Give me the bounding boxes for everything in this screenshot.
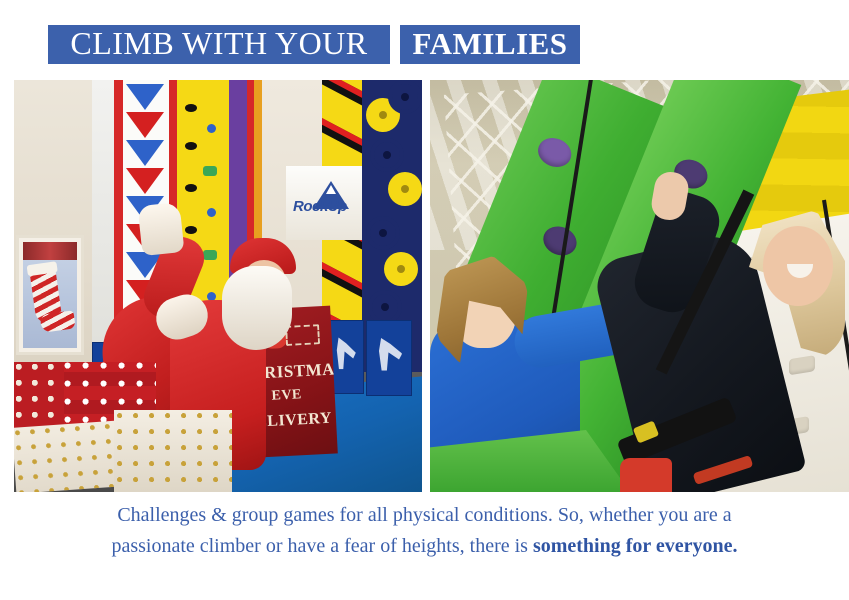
santa-scene-illustration: RockUp bbox=[14, 80, 422, 492]
page-header: CLIMB WITH YOUR FAMILIES bbox=[0, 0, 849, 80]
santa-waving-hand bbox=[138, 202, 185, 256]
woman-climber-figure bbox=[609, 192, 839, 492]
santa-beard bbox=[222, 266, 292, 350]
caption-line-2: passionate climber or have a fear of hei… bbox=[0, 531, 849, 562]
poster-artwork bbox=[23, 242, 77, 348]
red-equipment bbox=[620, 458, 672, 492]
climbing-scene-illustration bbox=[430, 80, 849, 492]
caption-line-2-text: passionate climber or have a fear of hei… bbox=[111, 535, 533, 557]
page-title-part-2: FAMILIES bbox=[400, 25, 580, 64]
present-cream-small bbox=[14, 420, 124, 492]
photo-santa-at-climbing-centre: RockUp bbox=[14, 80, 422, 492]
photo-strip: RockUp bbox=[0, 80, 849, 492]
christmas-stocking-icon bbox=[29, 266, 63, 325]
poster-header-band bbox=[23, 242, 77, 260]
caption-line-2-bold: something for everyone. bbox=[533, 535, 738, 557]
info-panel-blue-3 bbox=[366, 320, 412, 396]
photo-girl-and-woman-climbing bbox=[430, 80, 849, 492]
wall-poster bbox=[16, 235, 84, 355]
page-title-part-1: CLIMB WITH YOUR bbox=[48, 25, 390, 64]
caption-block: Challenges & group games for all physica… bbox=[0, 500, 849, 562]
caption-line-1: Challenges & group games for all physica… bbox=[0, 500, 849, 531]
present-cream-large bbox=[114, 410, 232, 492]
